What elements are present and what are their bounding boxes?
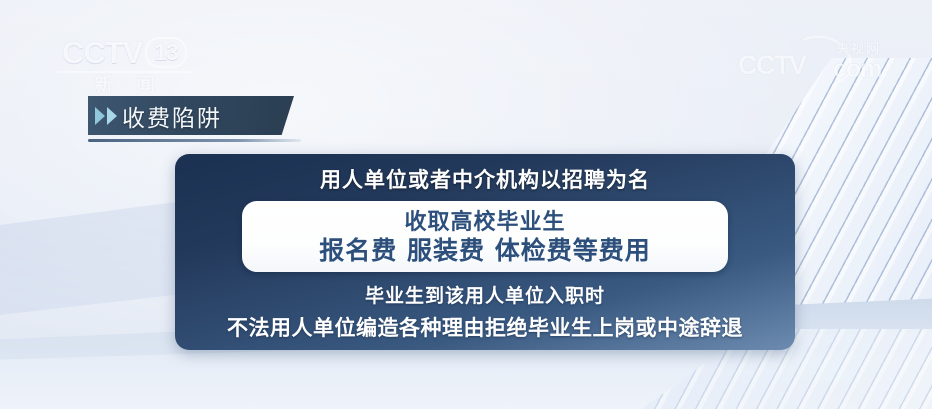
cctv13-brand: CCTV bbox=[62, 35, 142, 70]
info-panel-content: 用人单位或者中介机构以招聘为名 收取高校毕业生 报名费 服装费 体检费等费用 毕… bbox=[175, 154, 795, 350]
section-title-underline bbox=[88, 139, 301, 142]
highlight-line-2: 报名费 服装费 体检费等费用 bbox=[319, 236, 650, 265]
cctv13-watermark: CCTV13 新 闻 bbox=[52, 36, 197, 98]
cctv13-channel-number: 13 bbox=[145, 37, 187, 68]
highlight-line-1: 收取高校毕业生 bbox=[404, 209, 565, 236]
chevron-right-icon-2 bbox=[107, 107, 117, 125]
cctv-com-brand: CCTV bbox=[738, 50, 806, 81]
cctv13-rule bbox=[56, 71, 193, 73]
cctv-com-watermark: CCTV com 央视网 bbox=[738, 38, 908, 88]
panel-footnote-line-2: 不法用人单位编造各种理由拒绝毕业生上岗或中途辞退 bbox=[227, 312, 743, 342]
chevron-right-icon-1 bbox=[95, 107, 105, 125]
cctv-com-chinese: 央视网 bbox=[836, 38, 881, 57]
double-chevron-right-icon bbox=[95, 107, 117, 125]
section-title-text: 收费陷阱 bbox=[122, 99, 222, 133]
highlight-box: 收取高校毕业生 报名费 服装费 体检费等费用 bbox=[242, 201, 728, 272]
cctv13-subtitle: 新 闻 bbox=[52, 75, 197, 97]
panel-headline: 用人单位或者中介机构以招聘为名 bbox=[320, 164, 650, 194]
section-title-banner: 收费陷阱 bbox=[88, 96, 294, 135]
info-panel: 用人单位或者中介机构以招聘为名 收取高校毕业生 报名费 服装费 体检费等费用 毕… bbox=[175, 154, 795, 350]
cctv13-wordmark: CCTV13 bbox=[52, 36, 197, 70]
cctv-com-suffix: com bbox=[833, 55, 881, 84]
panel-footnote-line-1: 毕业生到该用人单位入职时 bbox=[365, 281, 605, 308]
broadcast-frame: CCTV13 新 闻 CCTV com 央视网 收费陷阱 用人单位或者中介机构以… bbox=[0, 0, 932, 409]
